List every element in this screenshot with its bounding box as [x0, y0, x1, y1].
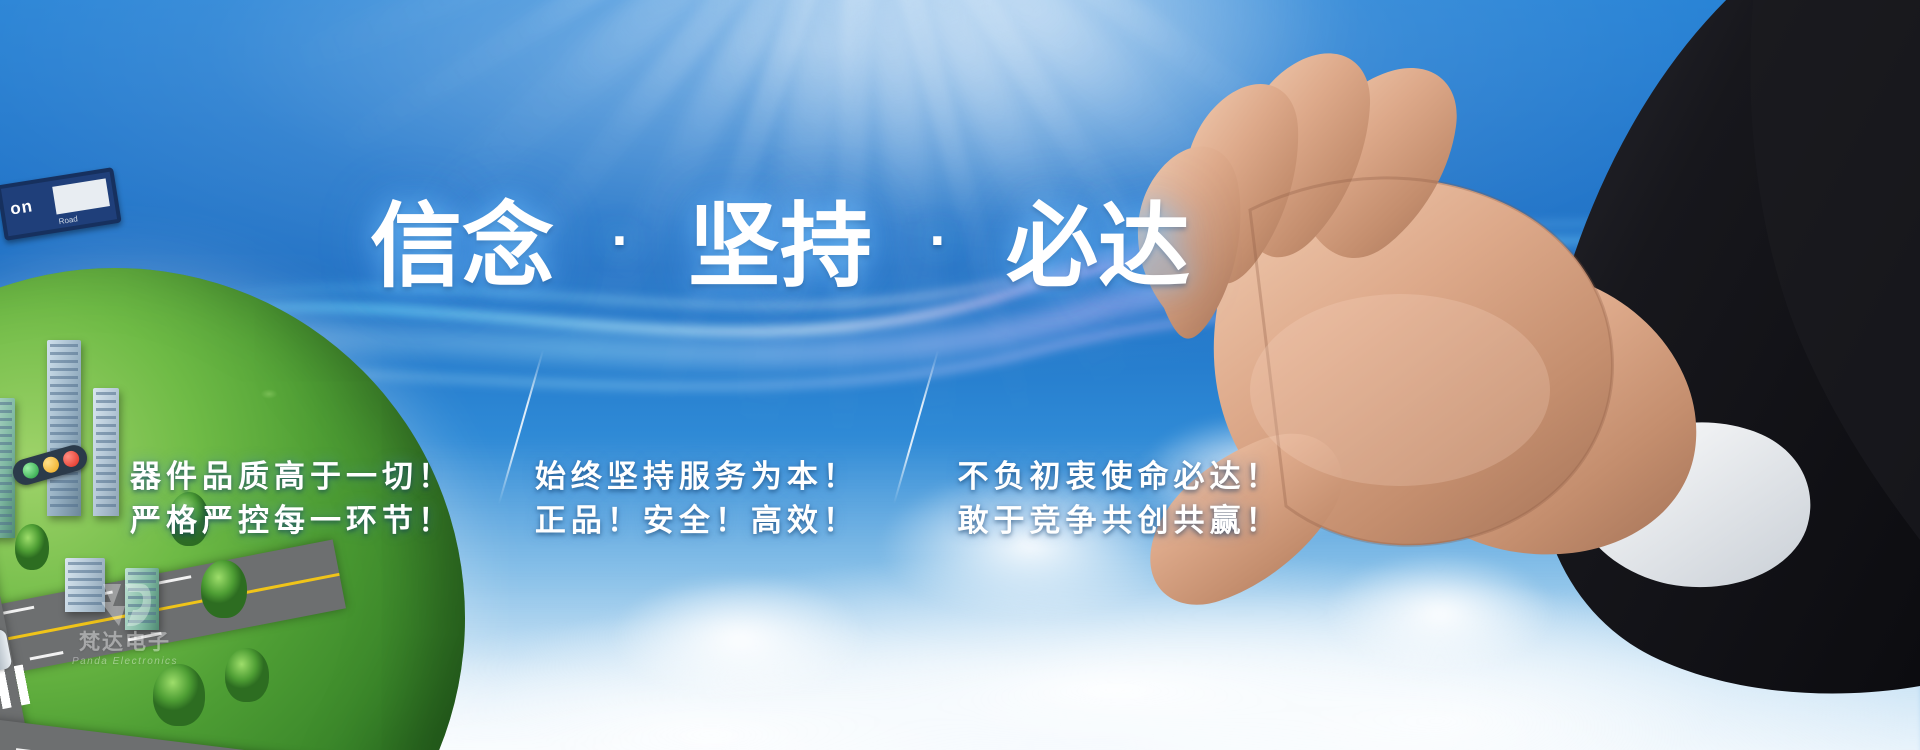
banner-stage: on Road 梵达电子 Panda Electronics	[0, 0, 1920, 750]
road-sign-pane	[52, 178, 110, 214]
headline-word-1: 信念	[370, 201, 554, 293]
slogan-column-2: 始终坚持服务为本！ 正品！安全！高效！	[535, 455, 888, 543]
headline-word-2: 坚持	[688, 201, 872, 293]
traffic-light-yellow	[41, 455, 61, 475]
road-sign-text: on	[9, 196, 35, 219]
slogan-1-line-1: 器件品质高于一切！	[130, 455, 465, 499]
tree	[153, 664, 205, 726]
headline-separator-1: ·	[601, 212, 640, 270]
headline-word-3: 必达	[1006, 201, 1190, 293]
building	[93, 388, 119, 516]
slogan-3-line-2: 敢于竞争共创共赢！	[957, 499, 1310, 543]
slogan-3-line-1: 不负初衷使命必达！	[957, 455, 1310, 499]
road-sign-board: on Road	[0, 167, 122, 241]
tree	[15, 524, 49, 570]
traffic-light-green	[21, 461, 41, 481]
slogan-2-line-1: 始终坚持服务为本！	[535, 455, 888, 499]
headline-separator-2: ·	[919, 212, 958, 270]
tree	[225, 648, 269, 702]
road-sign-subtext: Road	[58, 214, 78, 226]
building	[47, 340, 81, 516]
cloud-puff	[560, 540, 920, 720]
building	[65, 558, 105, 612]
slogan-2-line-2: 正品！安全！高效！	[535, 499, 888, 543]
headline: 信念 · 坚持 · 必达	[370, 188, 1190, 306]
slogan-divider-2	[893, 350, 939, 504]
slogan-column-3: 不负初衷使命必达！ 敢于竞争共创共赢！	[957, 455, 1310, 543]
traffic-light-red	[61, 449, 81, 469]
cloud-puff	[1280, 520, 1600, 690]
building	[125, 568, 159, 630]
tree	[201, 560, 247, 618]
slogan-1-line-2: 严格严控每一环节！	[130, 499, 465, 543]
slogan-column-1: 器件品质高于一切！ 严格严控每一环节！	[130, 455, 465, 543]
road-sign: on Road	[0, 167, 122, 241]
slogan-group: 器件品质高于一切！ 严格严控每一环节！ 始终坚持服务为本！ 正品！安全！高效！ …	[130, 455, 1310, 565]
